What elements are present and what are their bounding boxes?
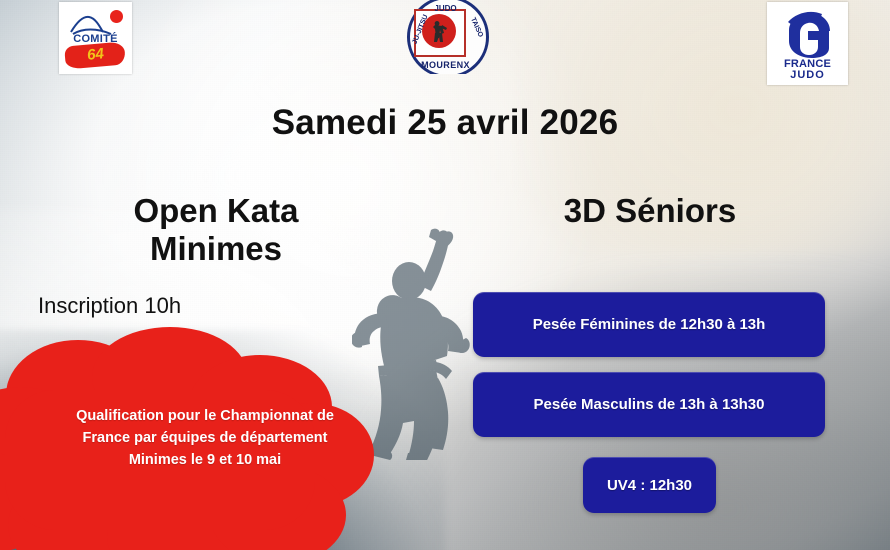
event-date-title: Samedi 25 avril 2026 — [0, 103, 890, 143]
club-logo-bottom-text: MOURENX — [398, 60, 493, 70]
open-kata-heading-line1: Open Kata — [133, 192, 298, 229]
inscription-time-label: Inscription 10h — [38, 293, 181, 319]
pesee-feminines-box: Pesée Féminines de 12h30 à 13h — [473, 292, 825, 357]
open-kata-heading-line2: Minimes — [150, 230, 282, 267]
france-judo-mark-icon — [784, 11, 832, 58]
qualification-cloud-text: Qualification pour le Championnat de Fra… — [40, 405, 370, 471]
cloud-text-line2: France par équipes de département — [83, 430, 328, 446]
open-kata-heading: Open Kata Minimes — [38, 192, 394, 269]
judo-event-poster: COMITÉ 64 MOURENXOIS JUDO JU-JITSU TAISO… — [0, 0, 890, 550]
pesee-masculins-box: Pesée Masculins de 13h à 13h30 — [473, 372, 825, 437]
france-judo-line2: JUDO — [767, 69, 848, 81]
club-logo-center-text: JUDO — [398, 4, 493, 13]
comite-64-judo-logo: COMITÉ 64 — [59, 2, 132, 74]
seniors-heading: 3D Séniors — [470, 192, 830, 230]
cloud-text-line1: Qualification pour le Championnat de — [76, 408, 334, 424]
france-judo-logo: FRANCE JUDO — [767, 2, 848, 85]
red-sun-icon — [110, 10, 123, 23]
mourenxois-judo-club-logo: MOURENXOIS JUDO JU-JITSU TAISO MOURENX — [398, 0, 493, 74]
uv4-box: UV4 : 12h30 — [583, 457, 716, 513]
cloud-text-line3: Minimes le 9 et 10 mai — [129, 452, 281, 468]
judoka-throw-icon — [429, 19, 449, 43]
